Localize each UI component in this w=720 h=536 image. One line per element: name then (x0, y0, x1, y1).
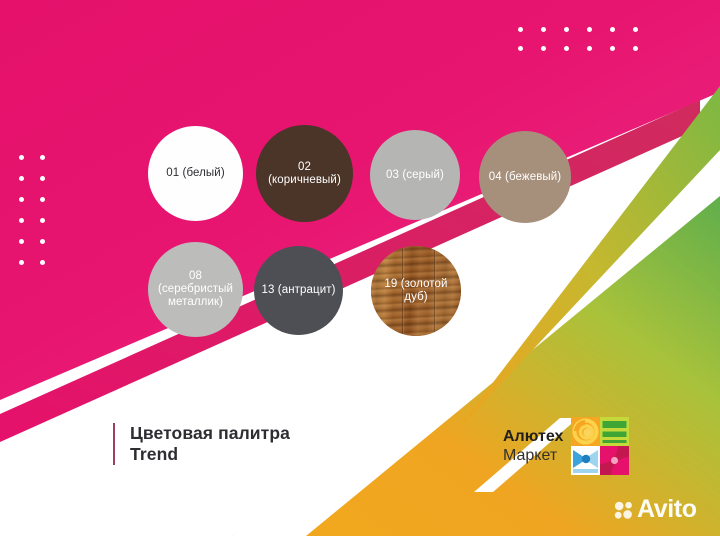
decor-dot (40, 155, 45, 160)
swatch-02-brown[interactable]: 02 (коричневый) (256, 125, 353, 222)
decor-dot (19, 176, 24, 181)
decor-dot (40, 176, 45, 181)
decor-dot (19, 239, 24, 244)
decor-dot (518, 27, 523, 32)
decor-dot (633, 27, 638, 32)
decor-dot (40, 197, 45, 202)
decor-dot (587, 27, 592, 32)
swatch-13-anthracite[interactable]: 13 (антрацит) (254, 246, 343, 335)
brand-lockup: Алютех Маркет (503, 417, 629, 475)
swatch-08-silver-metallic[interactable]: 08 (серебристый металлик) (148, 242, 243, 337)
avito-wordmark: Avito (637, 497, 697, 522)
swatch-label: 04 (бежевый) (485, 171, 565, 184)
decor-dot (40, 218, 45, 223)
swatch-label: 03 (серый) (382, 169, 448, 182)
dot-grid-left (19, 155, 61, 281)
decor-dot (19, 218, 24, 223)
decor-dot (564, 27, 569, 32)
palette-caption: Цветовая палитра Trend (113, 423, 290, 465)
swatch-label: 13 (антрацит) (257, 284, 339, 297)
brand-wordmark: Алютех Маркет (503, 427, 563, 465)
alutech-market-logo-icon (571, 417, 629, 475)
decor-dot (518, 46, 523, 51)
decor-dot (40, 260, 45, 265)
brand-name-line-2: Маркет (503, 446, 557, 465)
decor-dot (541, 46, 546, 51)
decor-dot (633, 46, 638, 51)
decor-dot (19, 155, 24, 160)
swatch-01-white[interactable]: 01 (белый) (148, 126, 243, 221)
poster-canvas: 01 (белый) 02 (коричневый) 03 (серый) 04… (0, 0, 720, 536)
swatch-04-beige[interactable]: 04 (бежевый) (479, 131, 571, 223)
brand-name-line-1: Алютех (503, 427, 563, 446)
swatch-19-golden-oak[interactable]: 19 (золотой дуб) (371, 246, 461, 336)
swatch-label: 02 (коричневый) (264, 161, 345, 187)
decor-dot (564, 46, 569, 51)
decor-dot (541, 27, 546, 32)
decor-dot (610, 46, 615, 51)
swatch-label: 19 (золотой дуб) (371, 278, 461, 304)
caption-line-1: Цветовая палитра (130, 423, 290, 444)
decor-dot (587, 46, 592, 51)
swatch-03-grey[interactable]: 03 (серый) (370, 130, 460, 220)
decor-dot (19, 197, 24, 202)
caption-line-2: Trend (130, 444, 290, 465)
decor-dot (610, 27, 615, 32)
avito-dots-icon (614, 501, 634, 519)
swatch-label: 01 (белый) (162, 167, 229, 180)
decor-dot (19, 260, 24, 265)
avito-watermark: Avito (614, 497, 697, 522)
swatch-label: 08 (серебристый металлик) (148, 270, 243, 309)
decor-dot (40, 239, 45, 244)
dot-grid-top-right (518, 27, 656, 65)
